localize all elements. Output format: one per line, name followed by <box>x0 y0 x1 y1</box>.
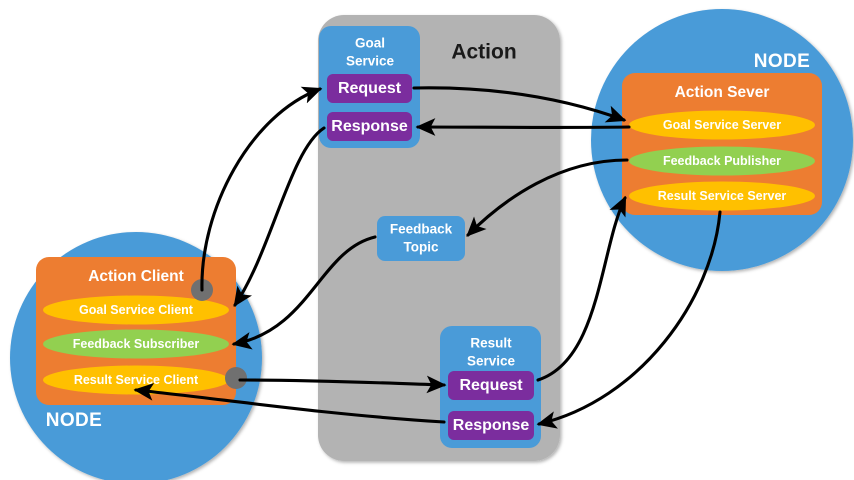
action-server-label: Action Sever <box>675 84 770 101</box>
result-service-server-label: Result Service Server <box>658 189 787 203</box>
action-client-label: Action Client <box>88 268 184 285</box>
result-service-client-connector-dot <box>225 367 247 389</box>
result-service-response-label: Response <box>453 417 530 434</box>
ros-action-architecture-diagram: Action NODE Action Sever Goal Service Se… <box>0 0 854 480</box>
result-service-title-line1: Result <box>470 336 512 351</box>
result-service-box[interactable]: Result Service Request Response <box>440 326 541 448</box>
flow-goal-response-to-client <box>235 128 324 305</box>
server-node[interactable]: NODE Action Sever Goal Service Server Fe… <box>591 9 853 271</box>
result-service-request-label: Request <box>459 377 523 394</box>
action-panel-title: Action <box>451 41 516 64</box>
feedback-topic-line2: Topic <box>404 240 439 255</box>
goal-service-server-label: Goal Service Server <box>663 118 781 132</box>
goal-service-response-label: Response <box>331 118 408 135</box>
feedback-subscriber-label: Feedback Subscriber <box>73 337 200 351</box>
result-service-title-line2: Service <box>467 354 516 369</box>
goal-service-client-label: Goal Service Client <box>79 303 194 317</box>
goal-service-title-line2: Service <box>346 54 395 69</box>
diagram-canvas: Action NODE Action Sever Goal Service Se… <box>0 0 854 480</box>
client-node[interactable]: NODE Action Client Goal Service Client F… <box>10 232 262 480</box>
goal-service-box[interactable]: Goal Service Request Response <box>319 26 420 148</box>
client-node-label: NODE <box>46 410 103 431</box>
goal-service-title-line1: Goal <box>355 36 385 51</box>
result-service-client-label: Result Service Client <box>74 373 199 387</box>
server-node-label: NODE <box>754 51 811 72</box>
feedback-topic-box[interactable]: Feedback Topic <box>377 216 465 261</box>
feedback-publisher-label: Feedback Publisher <box>663 154 781 168</box>
feedback-topic-line1: Feedback <box>390 222 453 237</box>
goal-service-request-label: Request <box>338 80 402 97</box>
